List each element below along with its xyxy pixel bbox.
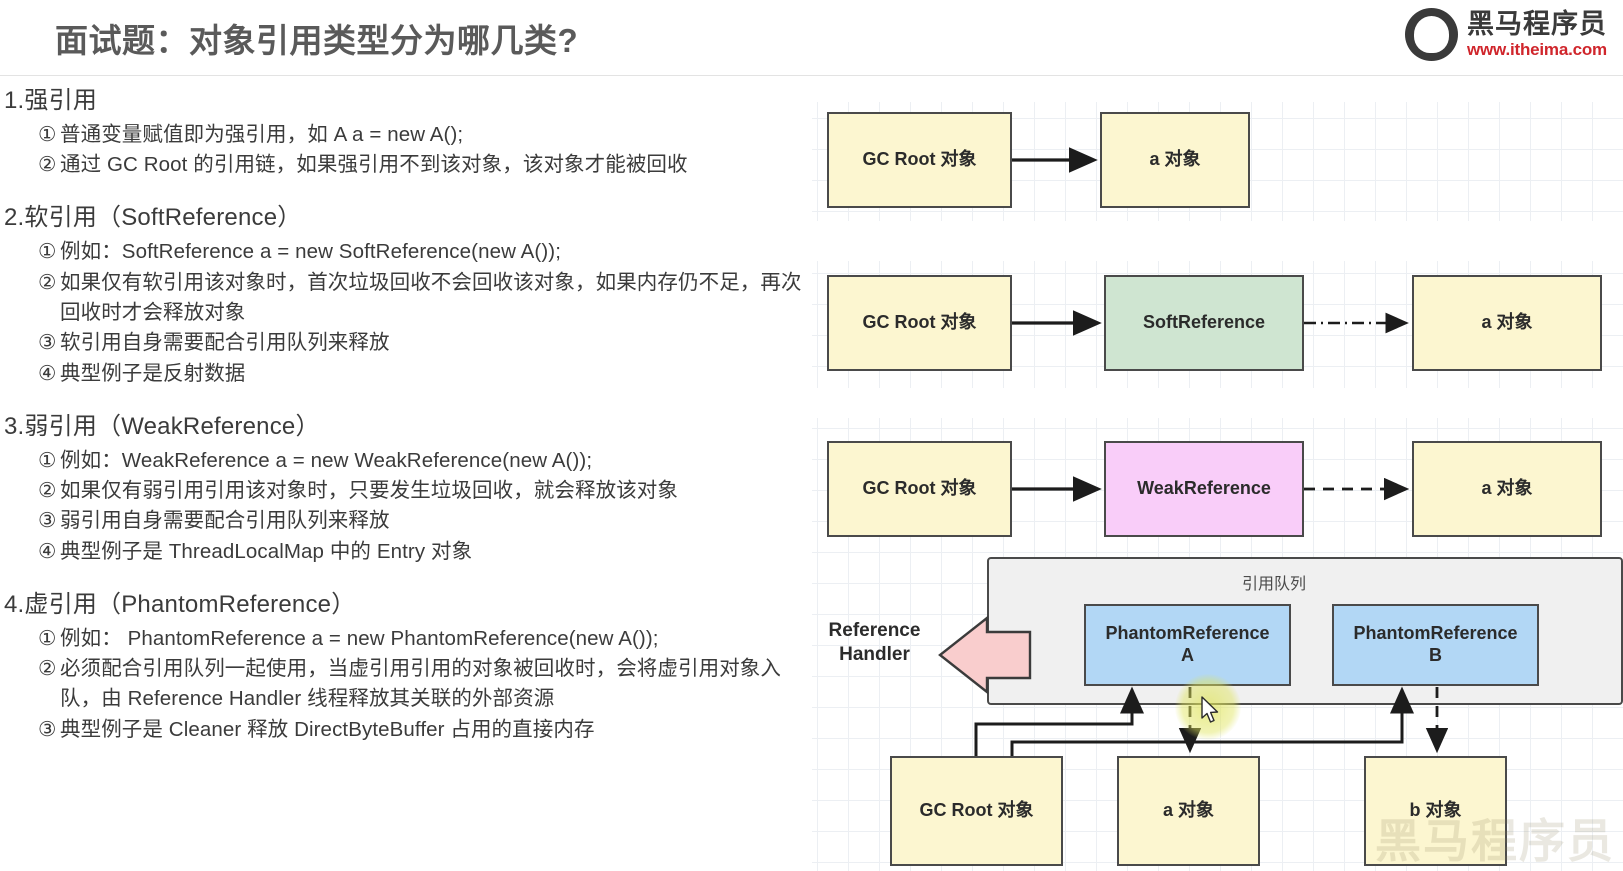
section-soft-reference: 2.软引用（SoftReference） ① 例如：SoftReference … [4,201,804,388]
node-label: a 对象 [1163,800,1214,822]
list-item-text: 例如：SoftReference a = new SoftReference(n… [60,237,804,267]
node-label-line1: PhantomReference [1353,623,1517,645]
list-item-marker: ① [4,624,60,654]
list-item: ① 例如： PhantomReference a = new PhantomRe… [4,624,804,654]
section-spacer [4,189,804,201]
logo-company-name: 黑马程序员 [1467,11,1607,38]
list-item-text: 普通变量赋值即为强引用，如 A a = new A(); [60,120,804,150]
list-item-text: 典型例子是反射数据 [60,359,804,389]
logo-text-block: 黑马程序员 www.itheima.com [1467,11,1607,58]
list-item-text: 通过 GC Root 的引用链，如果强引用不到该对象，该对象才能被回收 [60,150,804,180]
list-item-marker: ③ [4,506,60,536]
list-item-marker: ② [4,268,60,298]
canvas-gap [812,388,1623,418]
list-item: ④ 典型例子是反射数据 [4,359,804,389]
node-phantom-reference-a: PhantomReference A [1084,604,1291,686]
horse-logo-icon [1405,8,1458,61]
mouse-cursor [1201,696,1221,731]
list-item: ① 例如：SoftReference a = new SoftReference… [4,237,804,267]
node-a-object-soft: a 对象 [1412,275,1602,371]
list-item-text: 例如： PhantomReference a = new PhantomRefe… [60,624,804,654]
node-label: GC Root 对象 [920,800,1034,822]
list-item-text: 典型例子是 Cleaner 释放 DirectByteBuffer 占用的直接内… [60,715,804,745]
list-item: ④ 典型例子是 ThreadLocalMap 中的 Entry 对象 [4,537,804,567]
node-label-line1: PhantomReference [1105,623,1269,645]
node-gc-root-soft: GC Root 对象 [827,275,1012,371]
list-item-marker: ④ [4,359,60,389]
node-label: a 对象 [1481,478,1532,500]
logo-website-url: www.itheima.com [1467,41,1607,58]
reference-handler-line2: Handler [817,643,932,667]
list-item-text: 如果仅有弱引用引用该对象时，只要发生垃圾回收，就会释放该对象 [60,476,804,506]
list-item-marker: ③ [4,328,60,358]
content-outline: 1.强引用 ① 普通变量赋值即为强引用，如 A a = new A(); ② 通… [0,84,812,871]
node-a-object-weak: a 对象 [1412,441,1602,537]
section-weak-reference: 3.弱引用（WeakReference） ① 例如：WeakReference … [4,410,804,567]
list-item: ② 如果仅有软引用该对象时，首次垃圾回收不会回收该对象，如果内存仍不足，再次回收… [4,268,804,329]
section-item-list: ① 例如：SoftReference a = new SoftReference… [4,237,804,389]
section-item-list: ① 普通变量赋值即为强引用，如 A a = new A(); ② 通过 GC R… [4,120,804,181]
node-soft-reference: SoftReference [1104,275,1304,371]
canvas-gap [812,221,1623,261]
node-label-line2: A [1181,645,1194,667]
list-item-text: 弱引用自身需要配合引用队列来释放 [60,506,804,536]
section-item-list: ① 例如： PhantomReference a = new PhantomRe… [4,624,804,745]
list-item-marker: ② [4,654,60,684]
node-gc-root-phantom: GC Root 对象 [890,756,1063,866]
node-label: WeakReference [1137,478,1271,500]
list-item-marker: ② [4,150,60,180]
node-gc-root-weak: GC Root 对象 [827,441,1012,537]
section-spacer [4,398,804,410]
reference-handler-label: Reference Handler [817,619,932,667]
node-label: a 对象 [1149,149,1200,171]
list-item-text: 必须配合引用队列一起使用，当虚引用引用的对象被回收时，会将虚引用对象入队，由 R… [60,654,804,715]
list-item: ③ 软引用自身需要配合引用队列来释放 [4,328,804,358]
node-label-line2: B [1429,645,1442,667]
node-gc-root-strong: GC Root 对象 [827,112,1012,208]
list-item-marker: ④ [4,537,60,567]
list-item-text: 典型例子是 ThreadLocalMap 中的 Entry 对象 [60,537,804,567]
node-a-object-strong: a 对象 [1100,112,1250,208]
section-phantom-reference: 4.虚引用（PhantomReference） ① 例如： PhantomRef… [4,588,804,745]
list-item: ① 例如：WeakReference a = new WeakReference… [4,446,804,476]
section-title: 1.强引用 [4,84,804,119]
list-item: ③ 弱引用自身需要配合引用队列来释放 [4,506,804,536]
brand-logo: 黑马程序员 www.itheima.com [1405,8,1607,61]
section-title: 4.虚引用（PhantomReference） [4,588,804,623]
list-item: ② 如果仅有弱引用引用该对象时，只要发生垃圾回收，就会释放该对象 [4,476,804,506]
section-item-list: ① 例如：WeakReference a = new WeakReference… [4,446,804,567]
section-title: 3.弱引用（WeakReference） [4,410,804,445]
section-title: 2.软引用（SoftReference） [4,201,804,236]
list-item-marker: ① [4,120,60,150]
watermark-text: 黑马程序员 [1375,805,1615,871]
node-label: a 对象 [1481,312,1532,334]
section-spacer [4,576,804,588]
canvas-gap [812,84,1623,102]
node-phantom-reference-b: PhantomReference B [1332,604,1539,686]
list-item: ③ 典型例子是 Cleaner 释放 DirectByteBuffer 占用的直… [4,715,804,745]
page-title: 面试题：对象引用类型分为哪几类? [55,14,578,62]
node-weak-reference: WeakReference [1104,441,1304,537]
node-label: SoftReference [1143,312,1265,334]
cursor-arrow-icon [1201,696,1221,726]
slide-page: 面试题：对象引用类型分为哪几类? 黑马程序员 www.itheima.com 1… [0,0,1623,871]
page-header: 面试题：对象引用类型分为哪几类? 黑马程序员 www.itheima.com [0,0,1623,76]
list-item-marker: ① [4,446,60,476]
list-item-marker: ① [4,237,60,267]
list-item: ② 必须配合引用队列一起使用，当虚引用引用的对象被回收时，会将虚引用对象入队，由… [4,654,804,715]
reference-queue-label: 引用队列 [1242,570,1306,594]
list-item-marker: ② [4,476,60,506]
list-item: ① 普通变量赋值即为强引用，如 A a = new A(); [4,120,804,150]
list-item-text: 软引用自身需要配合引用队列来释放 [60,328,804,358]
list-item-marker: ③ [4,715,60,745]
node-label: GC Root 对象 [863,312,977,334]
reference-type-diagrams: GC Root 对象 a 对象 GC Root 对象 SoftReference… [812,84,1623,871]
reference-handler-line1: Reference [817,619,932,643]
node-a-object-phantom: a 对象 [1117,756,1260,866]
section-strong-reference: 1.强引用 ① 普通变量赋值即为强引用，如 A a = new A(); ② 通… [4,84,804,180]
node-label: GC Root 对象 [863,149,977,171]
list-item-text: 如果仅有软引用该对象时，首次垃圾回收不会回收该对象，如果内存仍不足，再次回收时才… [60,268,804,329]
node-label: GC Root 对象 [863,478,977,500]
list-item: ② 通过 GC Root 的引用链，如果强引用不到该对象，该对象才能被回收 [4,150,804,180]
horse-glyph-icon [1419,19,1445,51]
list-item-text: 例如：WeakReference a = new WeakReference(n… [60,446,804,476]
